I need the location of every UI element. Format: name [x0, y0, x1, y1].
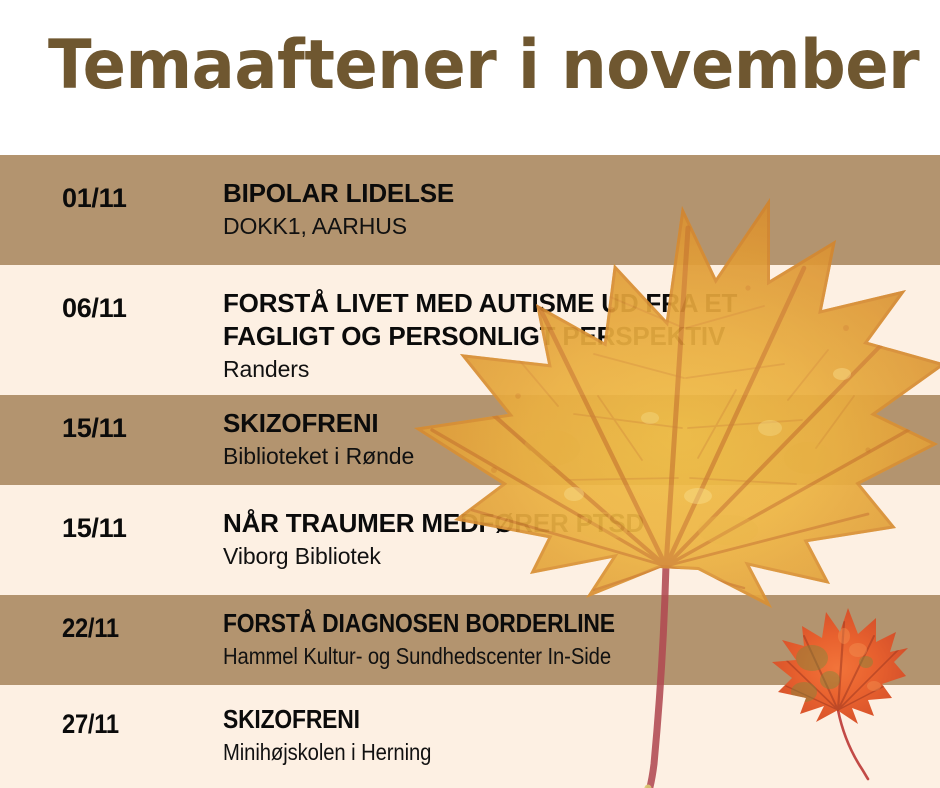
event-venue: Randers	[223, 355, 930, 383]
page-title: Temaaftener i november	[48, 26, 919, 106]
event-title: BIPOLAR LIDELSE	[223, 177, 930, 210]
schedule-row[interactable]: 15/11SKIZOFRENIBiblioteket i Rønde	[0, 395, 940, 485]
event-body: BIPOLAR LIDELSEDOKK1, AARHUS	[223, 177, 930, 240]
event-date: 15/11	[62, 413, 127, 444]
event-date: 01/11	[62, 183, 127, 214]
schedule-row[interactable]: 06/11FORSTÅ LIVET MED AUTISME UD FRA ET …	[0, 265, 940, 395]
event-date: 27/11	[62, 709, 119, 740]
event-venue: DOKK1, AARHUS	[223, 212, 930, 240]
event-body: FORSTÅ LIVET MED AUTISME UD FRA ET FAGLI…	[223, 287, 930, 383]
event-body: FORSTÅ DIAGNOSEN BORDERLINEHammel Kultur…	[223, 607, 930, 670]
schedule-row[interactable]: 01/11BIPOLAR LIDELSEDOKK1, AARHUS	[0, 155, 940, 265]
event-body: SKIZOFRENIBiblioteket i Rønde	[223, 407, 930, 470]
event-body: NÅR TRAUMER MEDFØRER PTSDViborg Bibliote…	[223, 507, 930, 570]
event-title: FORSTÅ LIVET MED AUTISME UD FRA ET FAGLI…	[223, 287, 930, 353]
event-venue: Hammel Kultur- og Sundhedscenter In-Side	[223, 642, 845, 670]
poster-header: Temaaftener i november	[0, 0, 940, 155]
event-body: SKIZOFRENIMinihøjskolen i Herning	[223, 703, 930, 766]
schedule-row[interactable]: 22/11FORSTÅ DIAGNOSEN BORDERLINEHammel K…	[0, 595, 940, 685]
event-title: NÅR TRAUMER MEDFØRER PTSD	[223, 507, 930, 540]
event-venue: Minihøjskolen i Herning	[223, 738, 845, 766]
event-venue: Biblioteket i Rønde	[223, 442, 930, 470]
event-title: FORSTÅ DIAGNOSEN BORDERLINE	[223, 607, 845, 640]
event-date: 15/11	[62, 513, 127, 544]
schedule-list: 01/11BIPOLAR LIDELSEDOKK1, AARHUS06/11FO…	[0, 155, 940, 788]
poster-canvas: 01/11BIPOLAR LIDELSEDOKK1, AARHUS06/11FO…	[0, 0, 940, 788]
event-title: SKIZOFRENI	[223, 407, 930, 440]
event-date: 22/11	[62, 613, 119, 644]
event-venue: Viborg Bibliotek	[223, 542, 930, 570]
schedule-row[interactable]: 15/11NÅR TRAUMER MEDFØRER PTSDViborg Bib…	[0, 485, 940, 595]
schedule-row[interactable]: 27/11SKIZOFRENIMinihøjskolen i Herning	[0, 685, 940, 788]
event-date: 06/11	[62, 293, 127, 324]
event-title: SKIZOFRENI	[223, 703, 845, 736]
